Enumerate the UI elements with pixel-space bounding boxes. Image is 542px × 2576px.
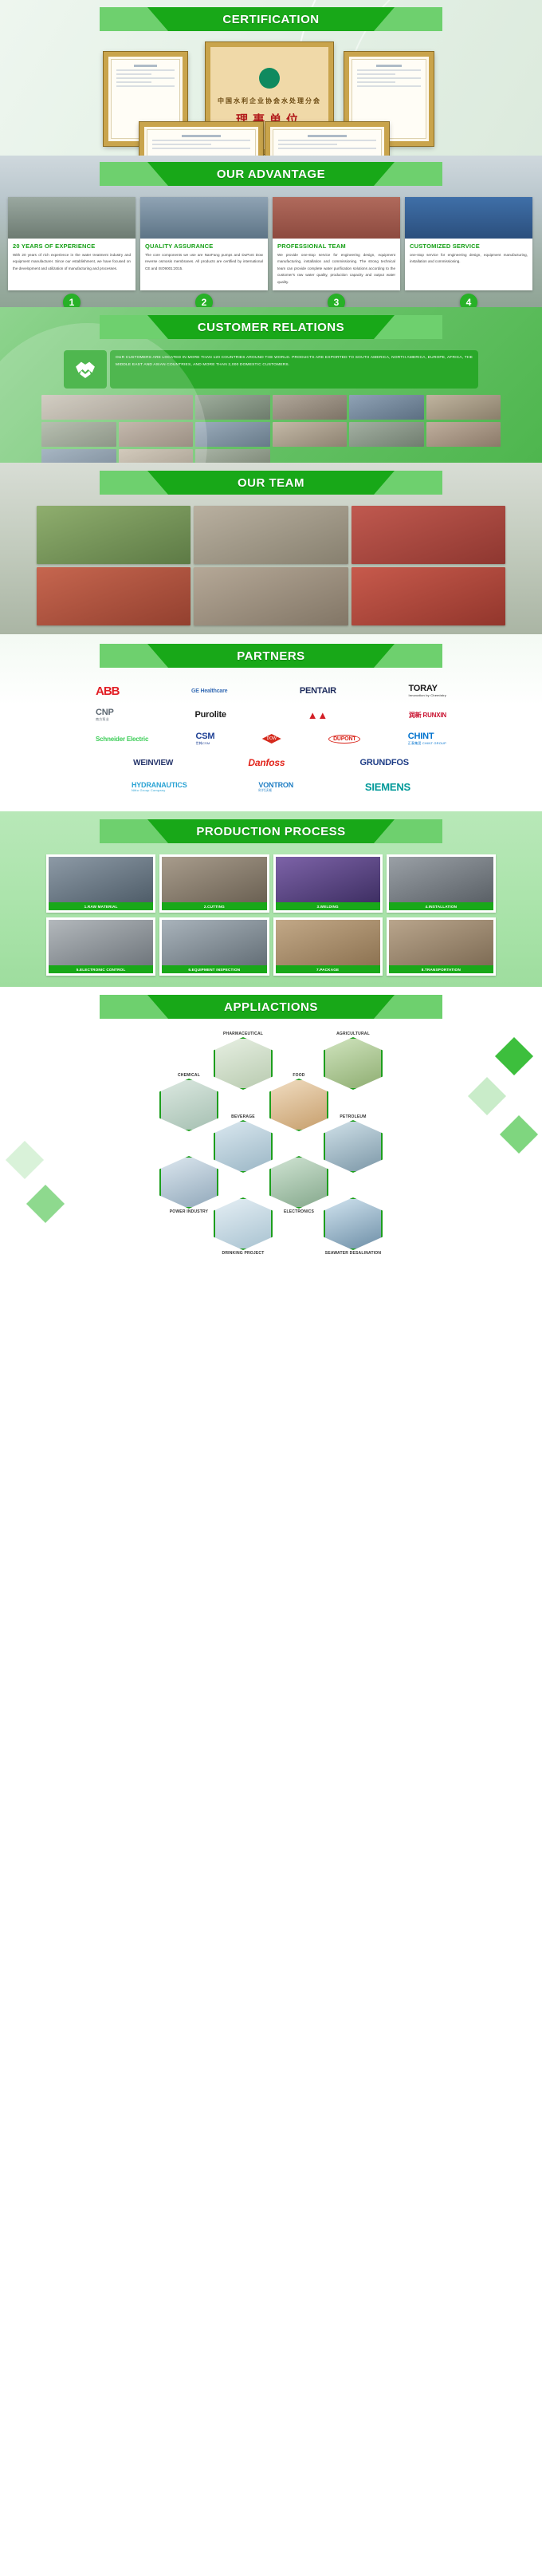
section-production-process: PRODUCTION PROCESS 1.RAW MATERIAL 2.CUTT…	[0, 811, 542, 987]
banner-title: CERTIFICATION	[222, 13, 319, 26]
application-item: SEAWATER DESALINATION	[324, 1197, 383, 1256]
customer-photo	[273, 395, 348, 420]
advantage-card: QUALITY ASSURANCE The core components we…	[140, 197, 268, 290]
advantage-title: 20 YEARS OF EXPERIENCE	[13, 243, 131, 250]
application-label: POWER INDUSTRY	[159, 1209, 218, 1214]
application-item: PETROLEUM	[324, 1114, 383, 1173]
certificate-frame	[265, 122, 389, 156]
application-label: DRINKING PROJECT	[214, 1251, 273, 1256]
team-photo	[194, 506, 348, 564]
partner-logo-row: Schneider Electric CSM 世韩CSM DOW DUPONT …	[96, 727, 446, 751]
application-hex-image	[214, 1037, 273, 1090]
production-step-label: 6.EQUIPMENT INSPECTION	[162, 965, 266, 973]
banner-customer-relations: CUSTOMER RELATIONS	[100, 315, 442, 339]
application-hex-image	[324, 1197, 383, 1250]
advantage-text: The core components we use are NanFang p…	[145, 252, 263, 272]
customer-photo	[349, 395, 424, 420]
application-hex-image	[214, 1197, 273, 1250]
application-label: SEAWATER DESALINATION	[324, 1251, 383, 1256]
partner-logo-row: HYDRANAUTICS Nitto Group Company VONTRON…	[96, 775, 446, 799]
production-step: 7.PACKAGE	[273, 917, 383, 976]
application-hex-image	[159, 1079, 218, 1131]
customer-photo	[426, 422, 501, 447]
application-item: DRINKING PROJECT	[214, 1197, 273, 1256]
partner-logo-csm: CSM 世韩CSM	[196, 732, 215, 745]
advantage-number-list: 1 2 3 4	[0, 294, 542, 307]
partner-logo-siemens: SIEMENS	[365, 781, 410, 793]
banner-applications: APPLIACTIONS	[100, 995, 442, 1019]
application-hex-image	[324, 1120, 383, 1173]
application-label: CHEMICAL	[159, 1073, 218, 1078]
production-step: 8.TRANSPORTATION	[387, 917, 496, 976]
partner-logo-weinview: WEINVIEW	[133, 759, 173, 767]
partner-logo-runxin: 润新 RUNXIN	[409, 711, 446, 720]
partner-logo-toray: TORAY Innovation by Chemistry	[408, 684, 446, 697]
advantage-photo	[405, 197, 532, 239]
production-step-label: 4.INSTALLATION	[389, 902, 493, 910]
advantage-card: CUSTOMIZED SERVICE one-stop service for …	[405, 197, 532, 290]
partner-logo-mitsubishi: ▲▲	[308, 709, 328, 721]
production-step-label: 3.WELDING	[276, 902, 380, 910]
production-step: 3.WELDING	[273, 854, 383, 913]
advantage-card-list: 20 YEARS OF EXPERIENCE With 20 years of …	[0, 197, 542, 290]
team-photo	[194, 567, 348, 625]
application-item: ELECTRONICS	[269, 1156, 328, 1214]
application-item: AGRICULTURAL	[324, 1032, 383, 1090]
partner-logo-purolite: Purolite	[194, 710, 226, 720]
partner-logo-hydranautics: HYDRANAUTICS Nitto Group Company	[132, 781, 187, 793]
team-photo-grid	[0, 506, 542, 625]
production-step-label: 8.TRANSPORTATION	[389, 965, 493, 973]
advantage-title: QUALITY ASSURANCE	[145, 243, 263, 250]
banner-team: OUR TEAM	[100, 471, 442, 495]
partner-logo-cnp: CNP 南方泵业	[96, 708, 114, 721]
section-certification: CERTIFICATION 中国水利企业协会水处理分会 理事单位	[0, 0, 542, 156]
partner-logo-grid: ABB GE Healthcare PENTAIR TORAY Innovati…	[0, 668, 542, 799]
world-map-graphic	[0, 323, 207, 463]
banner-certification: CERTIFICATION	[100, 7, 442, 31]
advantage-photo	[273, 197, 400, 239]
banner-partners: PARTNERS	[100, 644, 442, 668]
partner-logo-danfoss: Danfoss	[248, 757, 285, 768]
production-step-label: 2.CUTTING	[162, 902, 266, 910]
advantage-title: PROFESSIONAL TEAM	[277, 243, 395, 250]
production-step: 4.INSTALLATION	[387, 854, 496, 913]
banner-title: PARTNERS	[237, 649, 304, 663]
advantage-text: one-stop service for engineering design,…	[410, 252, 528, 266]
banner-title: OUR TEAM	[238, 476, 304, 490]
application-item: POWER INDUSTRY	[159, 1156, 218, 1214]
section-team: OUR TEAM	[0, 463, 542, 634]
application-hex-image	[214, 1120, 273, 1173]
certificate-gallery: 中国水利企业协会水处理分会 理事单位	[0, 42, 542, 156]
banner-title: CUSTOMER RELATIONS	[198, 321, 344, 334]
partner-logo-chint: CHINT 正泰集团 CHINT GROUP	[408, 732, 446, 745]
certificate-frame	[139, 122, 263, 156]
partner-logo-row: CNP 南方泵业 Purolite ▲▲ 润新 RUNXIN	[96, 703, 446, 727]
application-hex-grid: PHARMACEUTICAL AGRICULTURAL CHEMICAL FOO…	[0, 1032, 542, 1271]
section-partners: PARTNERS ABB GE Healthcare PENTAIR TORAY…	[0, 634, 542, 811]
customer-photo	[195, 395, 270, 420]
section-customer-relations: CUSTOMER RELATIONS OUR CUSTOMERS ARE LOC…	[0, 307, 542, 463]
application-item: PHARMACEUTICAL	[214, 1032, 273, 1090]
customer-photo	[349, 422, 424, 447]
application-hex-image	[269, 1079, 328, 1131]
application-label: AGRICULTURAL	[324, 1032, 383, 1036]
partner-logo-pentair: PENTAIR	[300, 686, 336, 696]
advantage-title: CUSTOMIZED SERVICE	[410, 243, 528, 250]
partner-logo-abb: ABB	[96, 684, 120, 698]
production-step-grid: 1.RAW MATERIAL 2.CUTTING 3.WELDING 4.INS…	[0, 854, 542, 976]
production-step: 6.EQUIPMENT INSPECTION	[159, 917, 269, 976]
team-photo	[37, 567, 190, 625]
advantage-number-badge: 1	[63, 294, 81, 307]
banner-advantage: OUR ADVANTAGE	[100, 162, 442, 186]
team-photo	[352, 567, 505, 625]
banner-title: OUR ADVANTAGE	[217, 168, 325, 181]
production-step: 5.ELECTRONIC CONTROL	[46, 917, 155, 976]
advantage-text: With 20 years of rich experience in the …	[13, 252, 131, 272]
section-applications: APPLIACTIONS PHARMACEUTICAL AGRICULTURAL…	[0, 987, 542, 1285]
team-photo	[37, 506, 190, 564]
application-label: ELECTRONICS	[269, 1209, 328, 1214]
production-step: 1.RAW MATERIAL	[46, 854, 155, 913]
customer-photo	[426, 395, 501, 420]
application-item: FOOD	[269, 1073, 328, 1131]
product-detail-page: CERTIFICATION 中国水利企业协会水处理分会 理事单位	[0, 0, 542, 1285]
partner-logo-dow: DOW	[262, 734, 281, 744]
partner-logo-row: WEINVIEW Danfoss GRUNDFOS	[96, 751, 446, 775]
banner-title: APPLIACTIONS	[224, 1000, 318, 1014]
production-step-label: 1.RAW MATERIAL	[49, 902, 153, 910]
partner-logo-vontron: VONTRON 时代沃顿	[258, 781, 293, 793]
team-photo	[352, 506, 505, 564]
production-step: 2.CUTTING	[159, 854, 269, 913]
partner-logo-schneider-electric: Schneider Electric	[96, 736, 148, 743]
production-step-label: 5.ELECTRONIC CONTROL	[49, 965, 153, 973]
section-advantage: OUR ADVANTAGE 20 YEARS OF EXPERIENCE Wit…	[0, 156, 542, 307]
application-label: FOOD	[269, 1073, 328, 1078]
partner-logo-row: ABB GE Healthcare PENTAIR TORAY Innovati…	[96, 679, 446, 703]
application-hex-image	[324, 1037, 383, 1090]
advantage-number-badge: 2	[195, 294, 213, 307]
application-label: BEVERAGE	[214, 1114, 273, 1119]
partner-logo-dupont: DUPONT	[328, 735, 360, 744]
advantage-card: 20 YEARS OF EXPERIENCE With 20 years of …	[8, 197, 135, 290]
advantage-number-badge: 4	[460, 294, 477, 307]
customer-photo	[273, 422, 348, 447]
application-hex-image	[269, 1156, 328, 1209]
advantage-card: PROFESSIONAL TEAM We provide one-stop se…	[273, 197, 400, 290]
application-item: BEVERAGE	[214, 1114, 273, 1173]
application-label: PETROLEUM	[324, 1114, 383, 1119]
application-label: PHARMACEUTICAL	[214, 1032, 273, 1036]
advantage-photo	[140, 197, 268, 239]
advantage-photo	[8, 197, 135, 239]
application-item: CHEMICAL	[159, 1073, 218, 1131]
partner-logo-ge-healthcare: GE Healthcare	[191, 688, 227, 694]
banner-title: PRODUCTION PROCESS	[196, 825, 345, 838]
production-step-label: 7.PACKAGE	[276, 965, 380, 973]
advantage-text: We provide one-stop service for engineer…	[277, 252, 395, 286]
partner-logo-grundfos: GRUNDFOS	[360, 758, 409, 767]
advantage-number-badge: 3	[328, 294, 345, 307]
banner-production-process: PRODUCTION PROCESS	[100, 819, 442, 843]
application-hex-image	[159, 1156, 218, 1209]
